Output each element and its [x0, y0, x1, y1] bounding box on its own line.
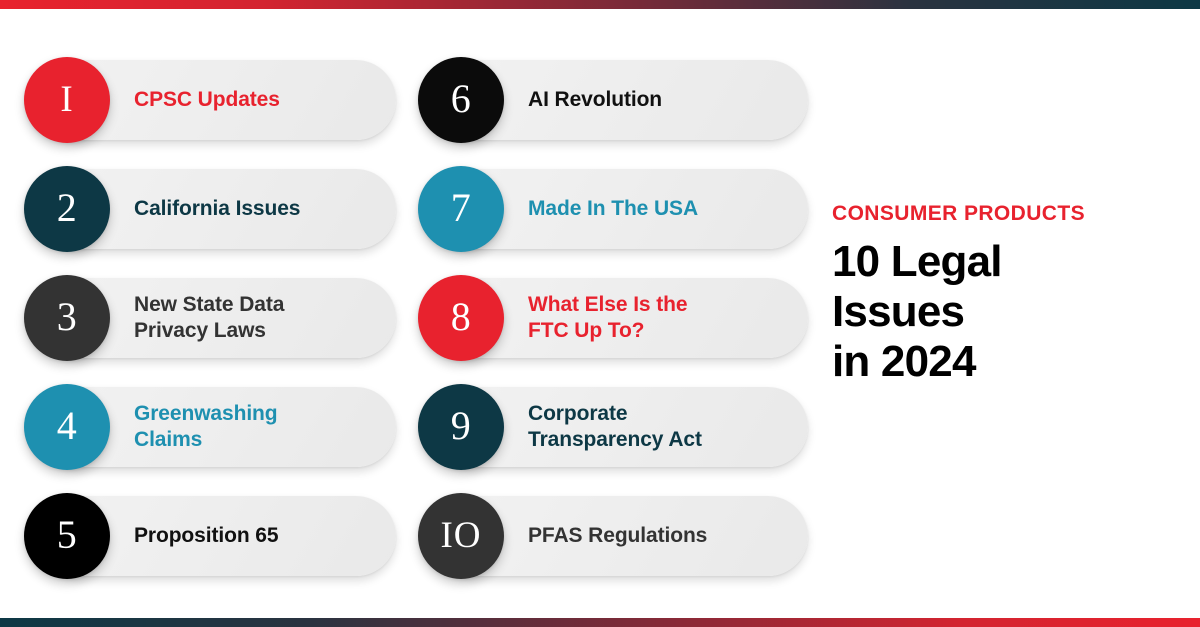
issue-item-1[interactable]: ICPSC Updates: [24, 57, 396, 143]
infographic-root: ICPSC Updates2California Issues3New Stat…: [0, 0, 1200, 627]
issue-column-right: 6AI Revolution7Made In The USA8What Else…: [418, 57, 790, 579]
issue-label-8: What Else Is theFTC Up To?: [528, 275, 776, 361]
issue-label-line-6-1: AI Revolution: [528, 87, 776, 113]
issue-number-badge-5: 5: [24, 493, 110, 579]
issue-label-line-9-2: Transparency Act: [528, 427, 776, 453]
issue-label-7: Made In The USA: [528, 166, 776, 252]
issue-number-badge-3: 3: [24, 275, 110, 361]
issue-column-left: ICPSC Updates2California Issues3New Stat…: [24, 57, 396, 579]
headline-title-line-2: Issues: [832, 287, 1162, 337]
issue-label-line-8-2: FTC Up To?: [528, 318, 776, 344]
issue-label-1: CPSC Updates: [134, 57, 382, 143]
issue-number-badge-6: 6: [418, 57, 504, 143]
issue-label-line-3-1: New State Data: [134, 292, 382, 318]
issue-number-3: 3: [57, 297, 78, 337]
headline-kicker: CONSUMER PRODUCTS: [832, 203, 1162, 224]
issue-item-3[interactable]: 3New State DataPrivacy Laws: [24, 275, 396, 361]
issue-number-1: I: [60, 81, 73, 118]
issue-label-line-2-1: California Issues: [134, 196, 382, 222]
issue-number-badge-7: 7: [418, 166, 504, 252]
issue-label-line-8-1: What Else Is the: [528, 292, 776, 318]
issue-number-6: 6: [451, 79, 472, 119]
issue-label-2: California Issues: [134, 166, 382, 252]
issue-item-5[interactable]: 5Proposition 65: [24, 493, 396, 579]
issue-item-4[interactable]: 4GreenwashingClaims: [24, 384, 396, 470]
issue-item-8[interactable]: 8What Else Is theFTC Up To?: [418, 275, 790, 361]
issue-number-badge-8: 8: [418, 275, 504, 361]
issue-label-6: AI Revolution: [528, 57, 776, 143]
bottom-accent-rule: [0, 618, 1200, 627]
headline-block: CONSUMER PRODUCTS 10 LegalIssuesin 2024: [832, 203, 1162, 387]
issue-label-3: New State DataPrivacy Laws: [134, 275, 382, 361]
issue-label-10: PFAS Regulations: [528, 493, 776, 579]
issue-label-line-3-2: Privacy Laws: [134, 318, 382, 344]
issue-label-9: CorporateTransparency Act: [528, 384, 776, 470]
headline-title: 10 LegalIssuesin 2024: [832, 237, 1162, 387]
issue-number-badge-10: IO: [418, 493, 504, 579]
issue-number-4: 4: [57, 406, 78, 446]
issue-list: ICPSC Updates2California Issues3New Stat…: [0, 0, 800, 627]
issue-number-8: 8: [451, 297, 472, 337]
issue-number-2: 2: [57, 188, 78, 228]
issue-item-2[interactable]: 2California Issues: [24, 166, 396, 252]
issue-number-10: IO: [440, 517, 481, 554]
issue-number-5: 5: [57, 515, 78, 555]
issue-label-line-7-1: Made In The USA: [528, 196, 776, 222]
issue-number-badge-9: 9: [418, 384, 504, 470]
issue-label-4: GreenwashingClaims: [134, 384, 382, 470]
headline-title-line-1: 10 Legal: [832, 237, 1162, 287]
issue-number-badge-1: I: [24, 57, 110, 143]
issue-label-line-4-1: Greenwashing: [134, 401, 382, 427]
issue-number-badge-4: 4: [24, 384, 110, 470]
issue-number-badge-2: 2: [24, 166, 110, 252]
issue-item-7[interactable]: 7Made In The USA: [418, 166, 790, 252]
issue-label-5: Proposition 65: [134, 493, 382, 579]
issue-label-line-1-1: CPSC Updates: [134, 87, 382, 113]
issue-label-line-5-1: Proposition 65: [134, 523, 382, 549]
issue-number-9: 9: [451, 406, 472, 446]
issue-number-7: 7: [451, 188, 472, 228]
issue-item-10[interactable]: IOPFAS Regulations: [418, 493, 790, 579]
issue-label-line-4-2: Claims: [134, 427, 382, 453]
issue-label-line-9-1: Corporate: [528, 401, 776, 427]
issue-item-6[interactable]: 6AI Revolution: [418, 57, 790, 143]
issue-label-line-10-1: PFAS Regulations: [528, 523, 776, 549]
issue-item-9[interactable]: 9CorporateTransparency Act: [418, 384, 790, 470]
headline-title-line-3: in 2024: [832, 337, 1162, 387]
